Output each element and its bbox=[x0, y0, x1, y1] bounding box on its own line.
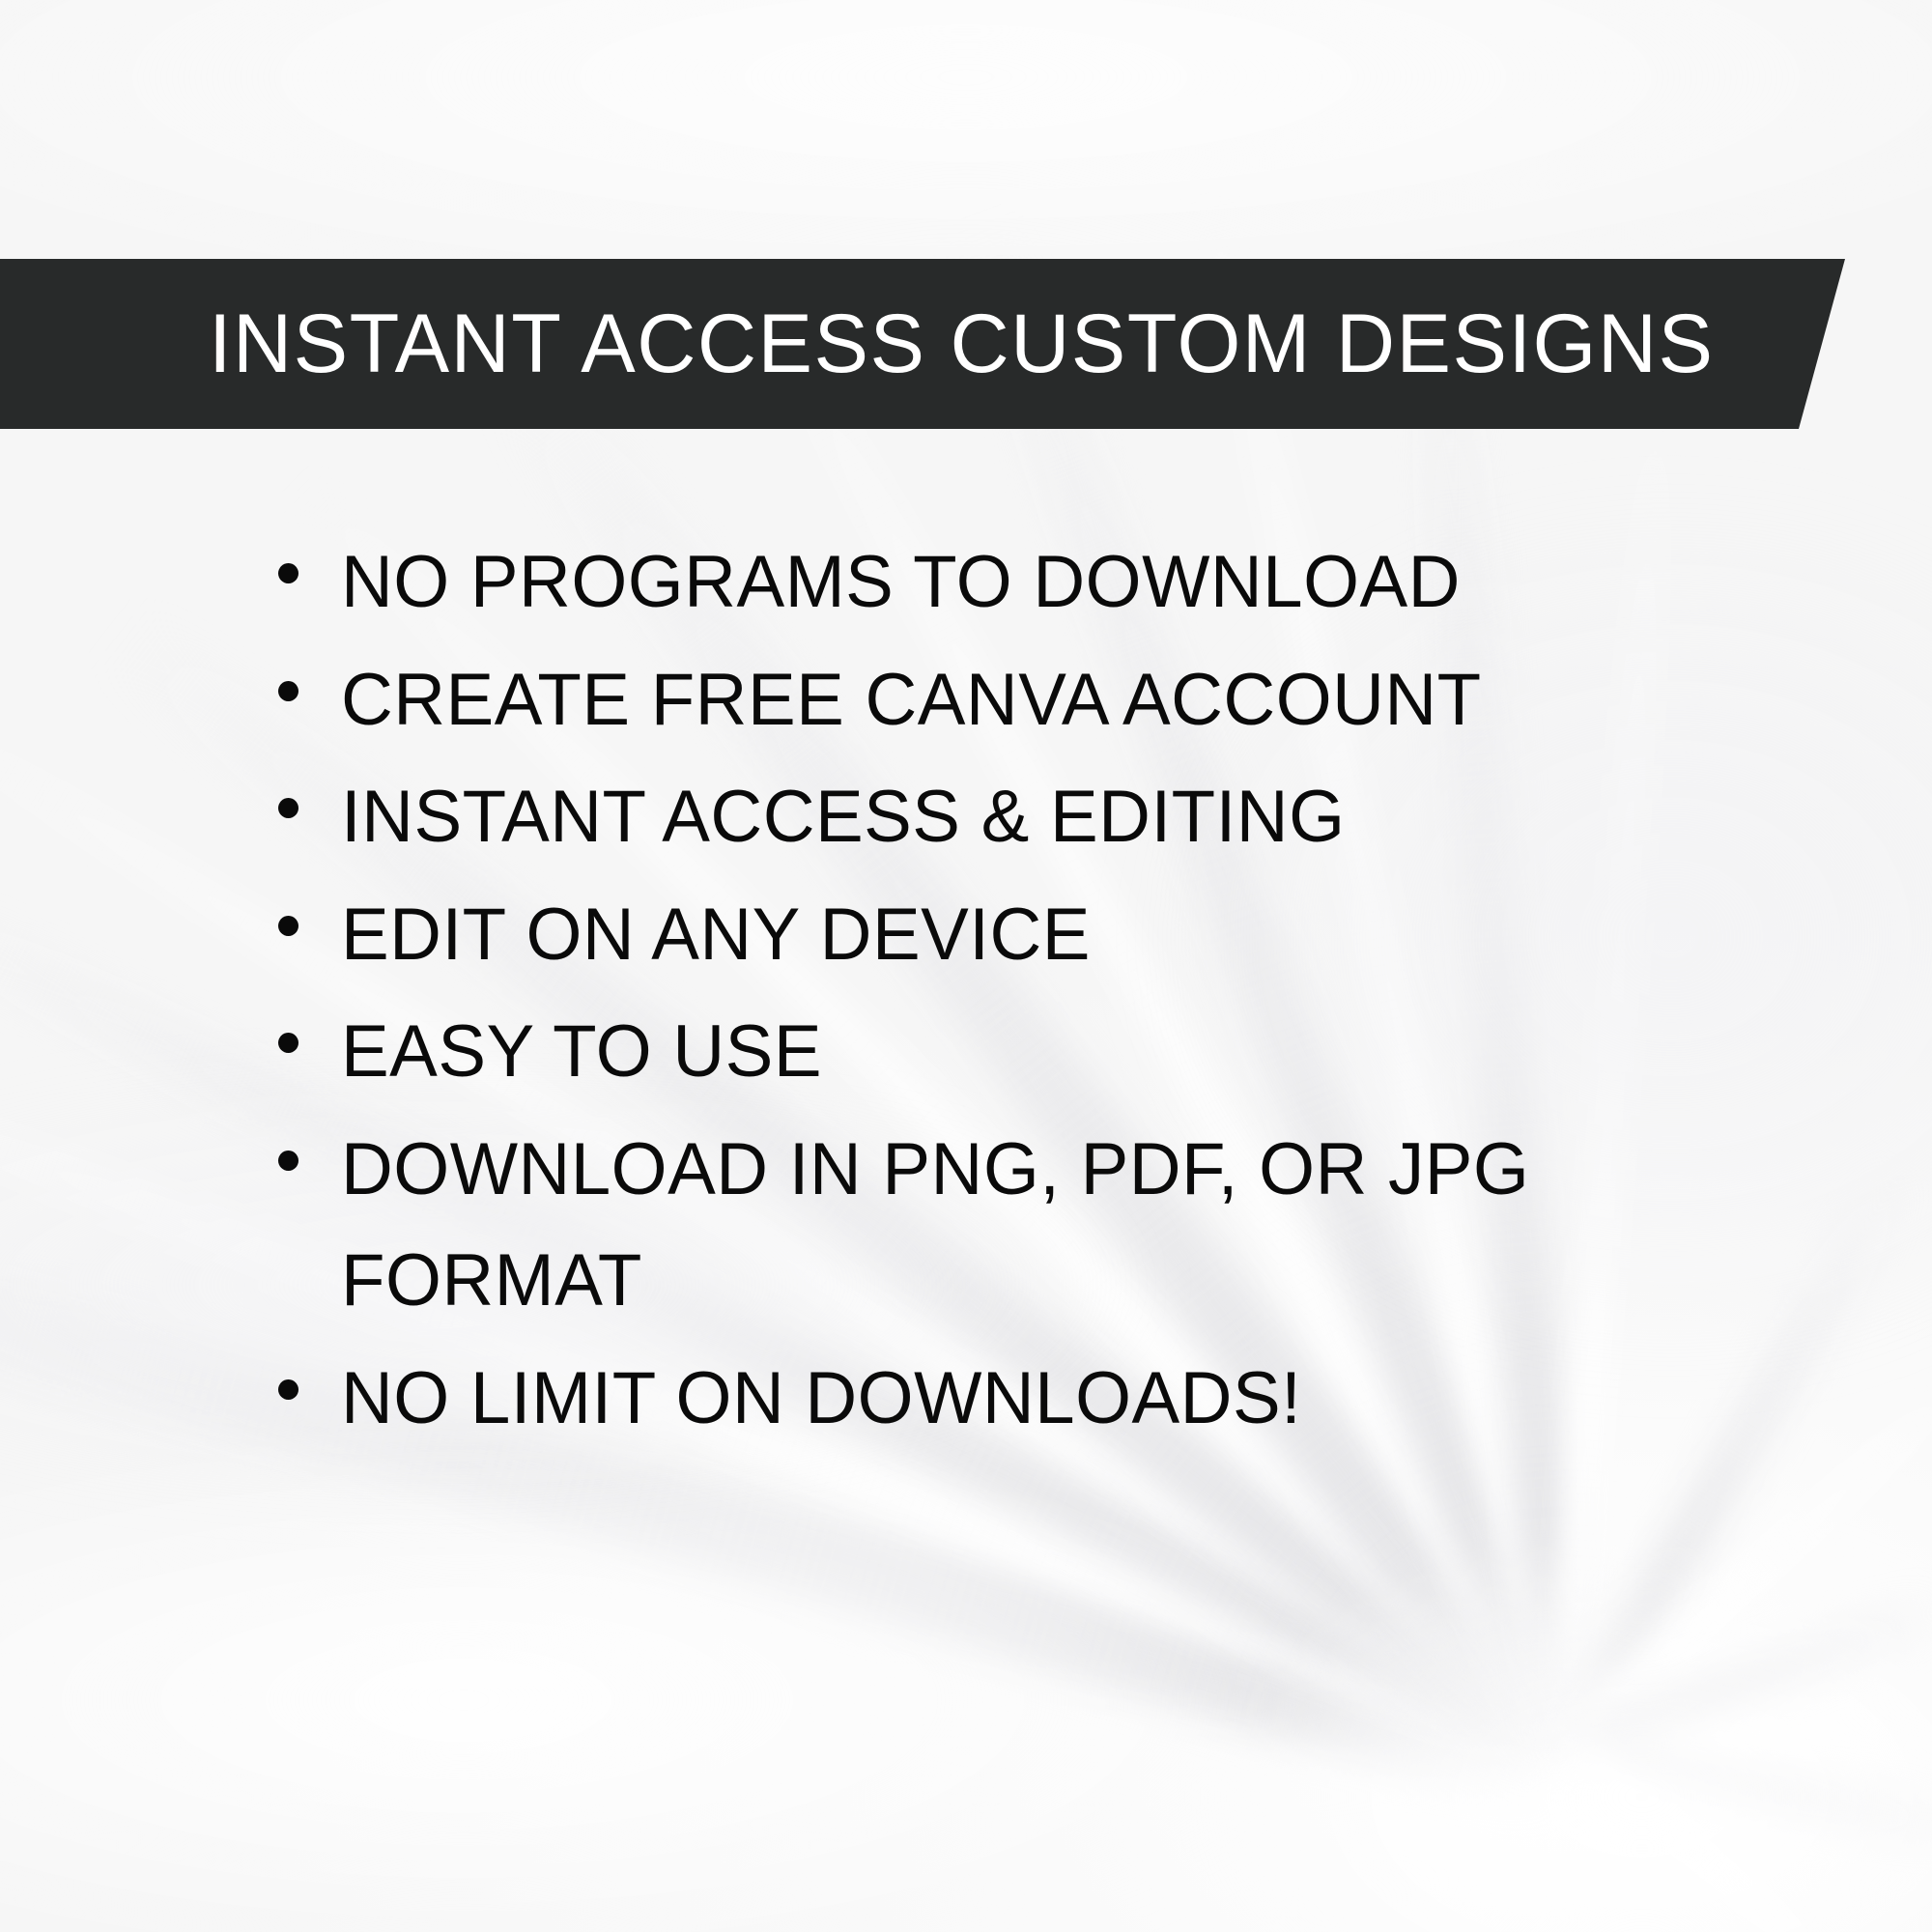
page-title: INSTANT ACCESS CUSTOM DESIGNS bbox=[209, 302, 1715, 385]
ray-15 bbox=[1559, 1591, 1932, 1764]
header-banner: INSTANT ACCESS CUSTOM DESIGNS bbox=[0, 259, 1845, 429]
list-item: NO PROGRAMS TO DOWNLOAD bbox=[278, 526, 1727, 639]
list-item: DOWNLOAD IN PNG, PDF, OR JPG FORMAT bbox=[278, 1114, 1727, 1337]
list-item-label: NO LIMIT ON DOWNLOADS! bbox=[341, 1343, 1699, 1455]
bullet-dot-icon bbox=[278, 563, 298, 583]
sweep-lower-left bbox=[0, 1430, 1333, 1932]
bullet-dot-icon bbox=[278, 681, 298, 701]
list-item: EDIT ON ANY DEVICE bbox=[278, 879, 1727, 991]
list-item: CREATE FREE CANVA ACCOUNT bbox=[278, 644, 1727, 756]
list-item-label: NO PROGRAMS TO DOWNLOAD bbox=[341, 526, 1699, 639]
list-item-label: CREATE FREE CANVA ACCOUNT bbox=[341, 644, 1699, 756]
list-item-label: EASY TO USE bbox=[341, 996, 1699, 1108]
list-item-label: EDIT ON ANY DEVICE bbox=[341, 879, 1699, 991]
list-item-label: DOWNLOAD IN PNG, PDF, OR JPG FORMAT bbox=[341, 1114, 1699, 1337]
feature-list: NO PROGRAMS TO DOWNLOAD CREATE FREE CANV… bbox=[278, 526, 1727, 1460]
bullet-dot-icon bbox=[278, 1379, 298, 1400]
list-item-label: INSTANT ACCESS & EDITING bbox=[341, 761, 1699, 873]
list-item: NO LIMIT ON DOWNLOADS! bbox=[278, 1343, 1727, 1455]
ray-16 bbox=[1561, 1729, 1932, 1848]
list-item: EASY TO USE bbox=[278, 996, 1727, 1108]
bullet-dot-icon bbox=[278, 916, 298, 936]
list-item: INSTANT ACCESS & EDITING bbox=[278, 761, 1727, 873]
bullet-dot-icon bbox=[278, 1151, 298, 1171]
bullet-dot-icon bbox=[278, 1033, 298, 1053]
promo-graphic-canvas: INSTANT ACCESS CUSTOM DESIGNS NO PROGRAM… bbox=[0, 0, 1932, 1932]
ray-17 bbox=[1557, 1732, 1855, 1932]
bullet-dot-icon bbox=[278, 798, 298, 818]
sweep-bottom-right bbox=[1207, 1546, 1932, 1932]
